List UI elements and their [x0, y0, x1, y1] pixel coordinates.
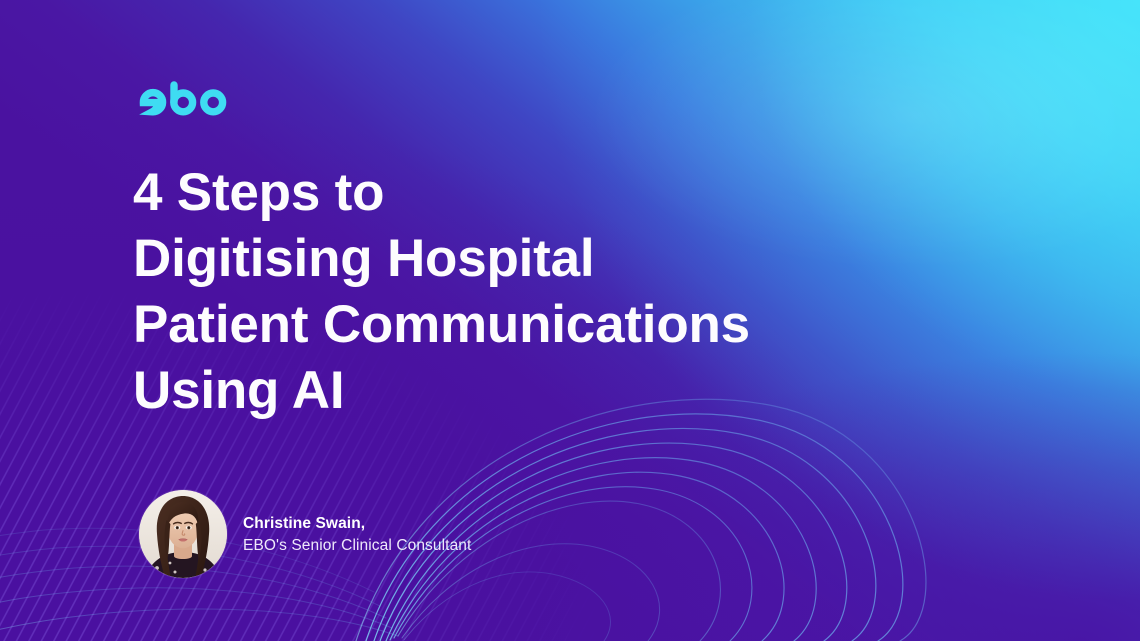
- headline-line-2: Digitising Hospital: [133, 226, 893, 292]
- speaker-name: Christine Swain,: [243, 514, 471, 534]
- ebo-logo-icon: [133, 78, 237, 120]
- presentation-slide: 4 Steps to Digitising Hospital Patient C…: [0, 0, 1140, 641]
- speaker-role: EBO's Senior Clinical Consultant: [243, 536, 471, 556]
- headline-line-4: Using AI: [133, 358, 893, 424]
- speaker-block: Christine Swain, EBO's Senior Clinical C…: [139, 490, 471, 578]
- page-title: 4 Steps to Digitising Hospital Patient C…: [133, 160, 893, 424]
- avatar: [139, 490, 227, 578]
- headline-line-1: 4 Steps to: [133, 160, 893, 226]
- avatar-photo: [139, 490, 227, 578]
- ebo-logo[interactable]: [133, 78, 237, 120]
- headline-line-3: Patient Communications: [133, 292, 893, 358]
- speaker-details: Christine Swain, EBO's Senior Clinical C…: [243, 512, 471, 557]
